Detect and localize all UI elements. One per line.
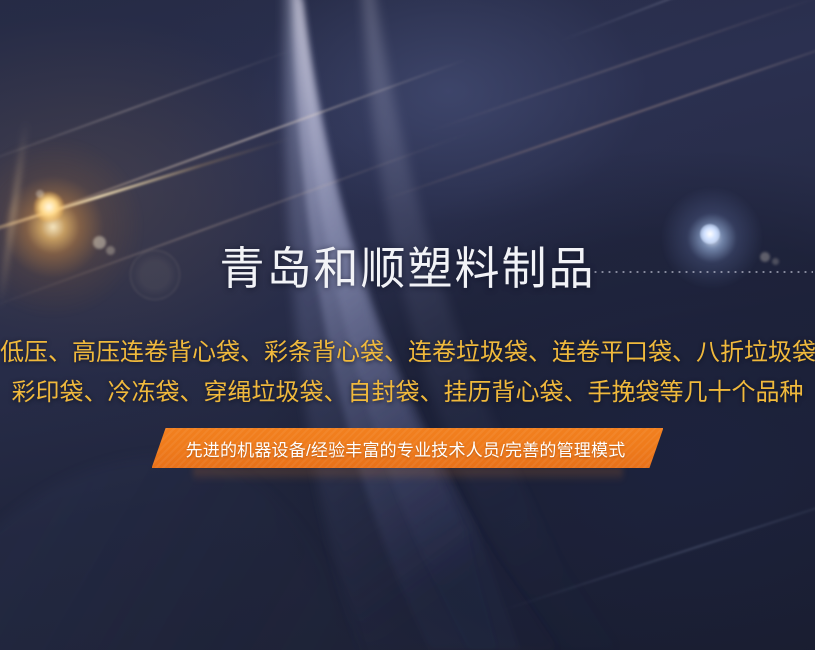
ribbon-container: 先进的机器设备/经验丰富的专业技术人员/完善的管理模式 xyxy=(0,428,815,468)
highlight-ribbon: 先进的机器设备/经验丰富的专业技术人员/完善的管理模式 xyxy=(152,428,664,468)
banner-content: 青岛和顺塑料制品 低压、高压连卷背心袋、彩条背心袋、连卷垃圾袋、连卷平口袋、八折… xyxy=(0,0,815,650)
ribbon-reflection xyxy=(193,468,623,482)
product-list-text: 低压、高压连卷背心袋、彩条背心袋、连卷垃圾袋、连卷平口袋、八折垃圾袋、 彩印袋、… xyxy=(0,333,815,413)
product-list-line-1: 低压、高压连卷背心袋、彩条背心袋、连卷垃圾袋、连卷平口袋、八折垃圾袋、 xyxy=(0,333,815,373)
ribbon-label: 先进的机器设备/经验丰富的专业技术人员/完善的管理模式 xyxy=(186,436,626,461)
page-title: 青岛和顺塑料制品 xyxy=(0,246,815,291)
product-list-line-2: 彩印袋、冷冻袋、穿绳垃圾袋、自封袋、挂历背心袋、手挽袋等几十个品种 xyxy=(0,373,815,413)
promo-banner: 青岛和顺塑料制品 低压、高压连卷背心袋、彩条背心袋、连卷垃圾袋、连卷平口袋、八折… xyxy=(0,0,815,650)
